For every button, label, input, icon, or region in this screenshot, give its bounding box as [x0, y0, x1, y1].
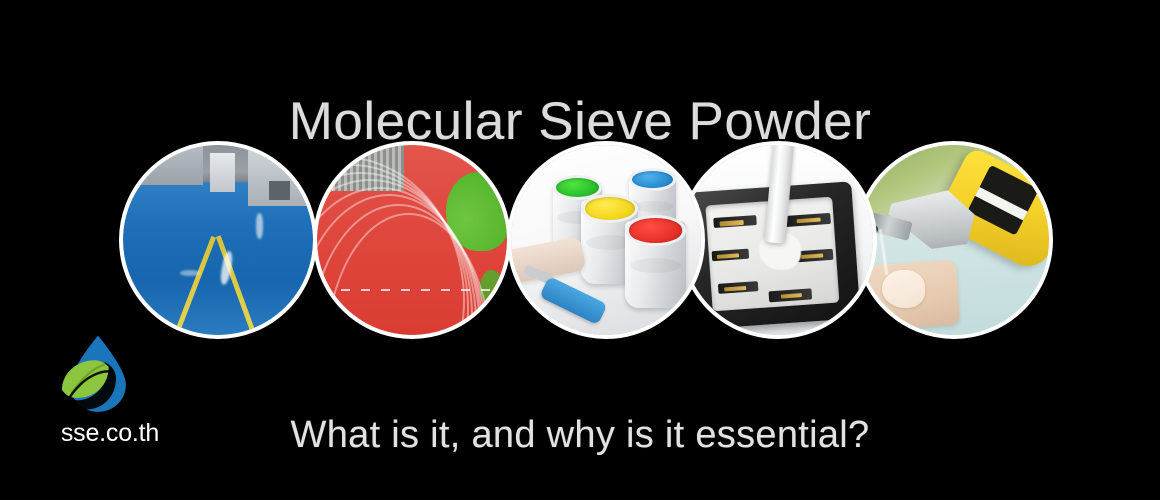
floor-gloss-highlight — [256, 213, 263, 239]
photo-paint-buckets — [507, 141, 705, 339]
photo-adhesive-glue — [855, 141, 1053, 339]
floor-wall-left — [123, 145, 203, 185]
presentation-slide: Molecular Sieve Powder — [0, 0, 1160, 500]
photo-electronic-potting — [679, 141, 877, 339]
photo-adhesive-glue-image — [859, 145, 1049, 335]
paint-bucket-rim — [629, 168, 677, 191]
circular-photo-strip — [119, 141, 1039, 341]
photo-epoxy-floor — [119, 141, 317, 339]
paint-bucket-rim — [581, 194, 638, 223]
adhesive-bead — [882, 270, 926, 308]
paint-bucket-rim — [625, 215, 686, 245]
logo-wordmark: sse.co.th — [48, 418, 172, 448]
floor-doorway — [210, 153, 235, 193]
page-subtitle: What is it, and why is it essential? — [0, 413, 1160, 457]
photo-running-track — [313, 141, 511, 339]
photo-paint-buckets-image — [511, 145, 701, 335]
photo-epoxy-floor-image — [123, 145, 313, 335]
track-dashed-marking — [321, 289, 503, 291]
water-droplet-leaf-icon — [56, 334, 140, 416]
photo-running-track-image — [317, 145, 507, 335]
floor-vent-panel — [269, 181, 290, 200]
photo-electronic-potting-image — [683, 145, 873, 335]
brand-logo[interactable]: sse.co.th — [48, 334, 172, 449]
